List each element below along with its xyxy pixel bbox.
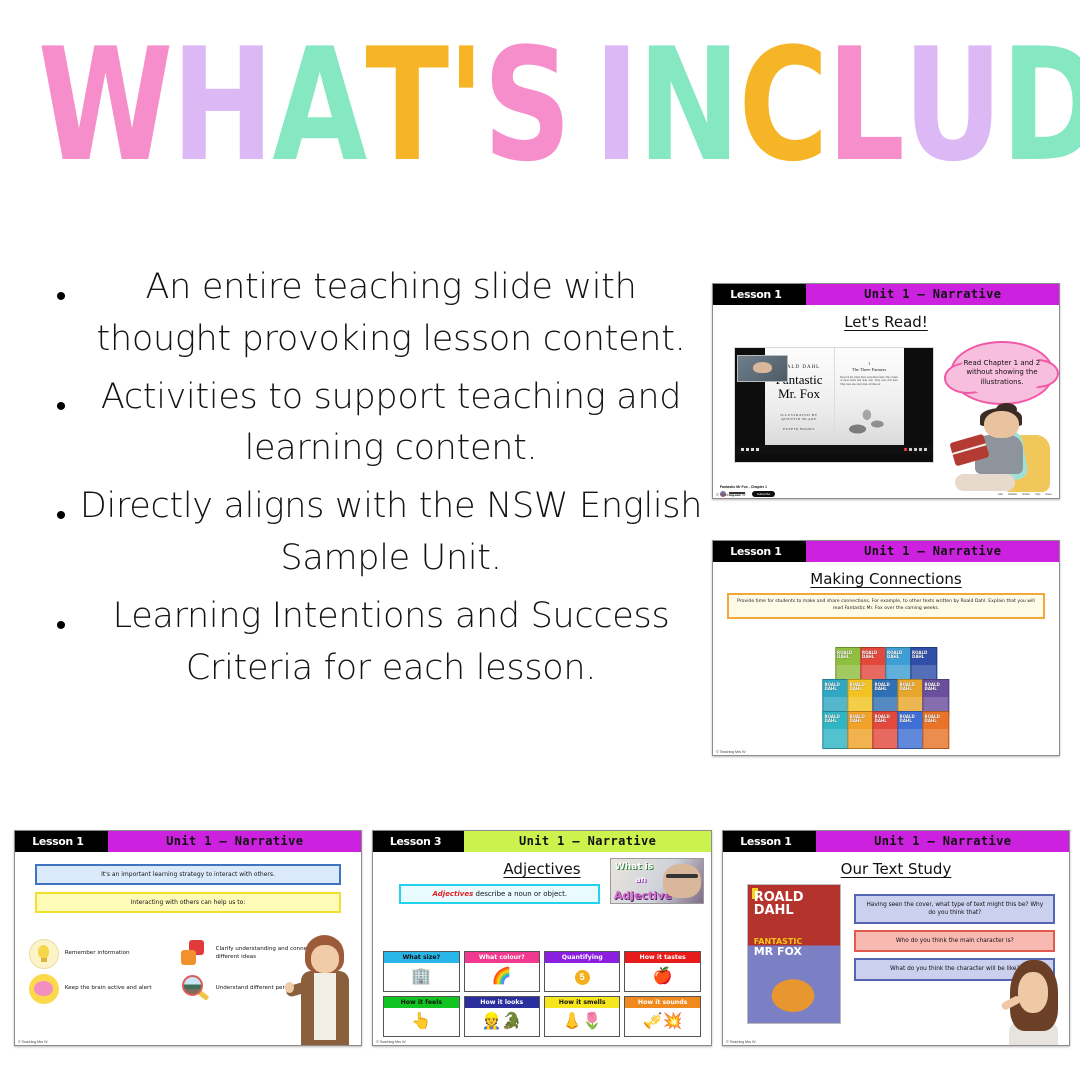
brain-icon: [29, 974, 59, 1004]
student-face: [1018, 972, 1048, 1013]
chapter-name: The Three Farmers: [840, 367, 898, 372]
adjective-card-body: 5: [545, 963, 619, 991]
video-title: Fantastic Mr Fox - Chapter 1: [720, 485, 767, 489]
adjective-card-body: 👷🐊: [465, 1008, 539, 1036]
slide-thumbnail-making-connections[interactable]: Lesson 1 Unit 1 – Narrative Making Conne…: [712, 540, 1060, 756]
glasses-icon: [666, 874, 697, 878]
illustration-sketch: [843, 398, 895, 440]
book-cover-image: ROALD DAHL FANTASTIC MR FOX: [747, 884, 840, 1023]
lesson-badge: Lesson 1: [713, 541, 806, 562]
slide-thumbnail-lets-read[interactable]: Lesson 1 Unit 1 – Narrative Let's Read! …: [712, 283, 1060, 499]
book-cover-grid: [794, 647, 977, 749]
title-letter-9: C: [738, 28, 826, 184]
adjective-card[interactable]: How it feels👆: [383, 996, 459, 1037]
title-letter-10: L: [827, 28, 903, 184]
adjective-card-header: How it looks: [465, 997, 539, 1008]
book-illustrator: ILLUSTRATED BY QUENTIN BLAKE: [770, 413, 828, 421]
adjective-card[interactable]: How it smells👃🌷: [544, 996, 620, 1037]
slide-body: Making Connections Provide time for stud…: [713, 562, 1059, 755]
adjective-card-header: Quantifying: [545, 952, 619, 963]
subscribe-button[interactable]: Subscribe: [752, 491, 775, 497]
benefit-item: Keep the brain active and alert: [29, 974, 176, 1004]
slide-title: Making Connections: [720, 570, 1052, 588]
feature-list: •An entire teaching slide with thought p…: [44, 262, 704, 700]
feature-list-item-label: Directly aligns with the NSW English Sam…: [78, 481, 704, 585]
lesson-badge: Lesson 3: [373, 831, 464, 852]
adjective-card-body: 👆: [384, 1008, 458, 1036]
book-cover-thumb: [848, 711, 875, 749]
video-text-line2: an: [635, 875, 646, 884]
slide-body: Adjectives What is an Adjective Adjectiv…: [373, 852, 711, 1045]
adjective-card[interactable]: How it tastes🍎: [624, 951, 700, 992]
adjective-card[interactable]: What size?🏢: [383, 951, 459, 992]
teacher-illustration: [285, 933, 358, 1045]
fox-illustration: [761, 971, 825, 1012]
book-cover-thumb: [823, 711, 850, 749]
cover-title-big: MR FOX: [754, 946, 836, 957]
cloud-callout: Read Chapter 1 and 2 without showing the…: [950, 341, 1054, 405]
title-letter-2: A: [272, 28, 365, 184]
slide-title: Our Text Study: [730, 860, 1062, 878]
title-letter-5: S: [483, 28, 570, 184]
magnifier-icon: [180, 974, 210, 1004]
puzzle-icon: [180, 939, 210, 969]
adjective-card[interactable]: Quantifying5: [544, 951, 620, 992]
cloud-text: Read Chapter 1 and 2 without showing the…: [962, 359, 1041, 387]
teacher-hand: [285, 982, 294, 993]
chapter-excerpt: Down in the valley there were three farm…: [840, 376, 898, 387]
slide-body: Let's Read! ROALD DAHL Fantastic Mr. Fox…: [713, 305, 1059, 498]
adjective-card-icon: 🍎: [653, 969, 673, 985]
adjective-card-icon: 👃🌷: [562, 1014, 602, 1030]
adjective-card-header: What colour?: [465, 952, 539, 963]
unit-header: Unit 1 – Narrative: [806, 541, 1059, 562]
book-title-line2: Mr. Fox: [778, 386, 820, 401]
slide-thumbnail-adjectives[interactable]: Lesson 3 Unit 1 – Narrative Adjectives W…: [372, 830, 712, 1046]
adjective-card-body: 🍎: [625, 963, 699, 991]
student-head: [984, 411, 1019, 439]
unit-header: Unit 1 – Narrative: [806, 284, 1059, 305]
adjective-card-icon: 👷🐊: [482, 1014, 522, 1030]
adjective-card-icon: 🎺💥: [643, 1014, 683, 1030]
reading-student-illustration: [948, 403, 1052, 496]
feature-list-item: •Activities to support teaching and lear…: [44, 372, 704, 476]
adjective-card-body: 🏢: [384, 963, 458, 991]
adjective-card-body: 👃🌷: [545, 1008, 619, 1036]
adjective-card-icon: 🌈: [492, 969, 512, 985]
playback-controls-icon[interactable]: [741, 448, 759, 451]
cover-author: ROALD DAHL: [754, 892, 836, 917]
bullet-icon: •: [44, 262, 78, 312]
title-letter-11: U: [903, 28, 1001, 184]
book-grid-row: [824, 711, 949, 749]
presenter-face: [663, 864, 702, 898]
unit-header: Unit 1 – Narrative: [464, 831, 711, 852]
definition-rest: describe a noun or object.: [473, 890, 567, 898]
puzzle-piece-orange: [181, 950, 196, 965]
video-embed[interactable]: ROALD DAHL Fantastic Mr. Fox ILLUSTRATED…: [734, 347, 935, 463]
presenter-webcam-overlay: [737, 355, 789, 382]
credit-line: © Teaching Mrs W: [726, 1039, 755, 1044]
quantity-badge: 5: [575, 970, 590, 985]
slide-header: Lesson 1 Unit 1 – Narrative: [713, 284, 1059, 305]
video-controls-bar[interactable]: [735, 445, 934, 454]
cover-title: FANTASTIC MR FOX: [754, 938, 836, 958]
adjective-card[interactable]: What colour?🌈: [464, 951, 540, 992]
teacher-shirt: [314, 973, 336, 1040]
feature-list-item-label: Learning Intentions and Success Criteria…: [78, 591, 704, 695]
slide-title: Let's Read!: [720, 313, 1052, 331]
benefit-item-label: Remember information: [65, 950, 130, 958]
feature-list-item: •An entire teaching slide with thought p…: [44, 262, 704, 366]
unit-header: Unit 1 – Narrative: [108, 831, 361, 852]
student-illustration: [1000, 960, 1066, 1045]
video-text-line1: What is: [615, 862, 653, 872]
credit-line: © Teaching Mrs W: [716, 492, 745, 497]
title-letter-8: N: [638, 28, 739, 184]
title-letter-3: T: [365, 28, 447, 184]
adjective-card[interactable]: How it looks👷🐊: [464, 996, 540, 1037]
adjective-card-header: How it smells: [545, 997, 619, 1008]
lesson-badge: Lesson 1: [15, 831, 108, 852]
slide-header: Lesson 3 Unit 1 – Narrative: [373, 831, 711, 852]
title-letter-4: ': [447, 28, 483, 184]
adjective-card-body: 🌈: [465, 963, 539, 991]
book-publisher: PUFFIN BOOKS: [770, 427, 828, 431]
credit-line: © Teaching Mrs W: [18, 1039, 47, 1044]
slide-thumbnail-text-study[interactable]: Lesson 1 Unit 1 – Narrative Our Text Stu…: [722, 830, 1070, 1046]
title-letter-1: H: [171, 28, 272, 184]
title-letter-12: D: [1001, 28, 1080, 184]
title-letter-0: W: [38, 28, 172, 184]
adjective-card-header: How it tastes: [625, 952, 699, 963]
discussion-question: Having seen the cover, what type of text…: [854, 894, 1055, 924]
adjective-card-body: 🎺💥: [625, 1008, 699, 1036]
chapter-number: 1: [840, 361, 898, 366]
adjective-card-header: How it sounds: [625, 997, 699, 1008]
credit-line: © Teaching Mrs W: [376, 1039, 405, 1044]
page-title: WHAT'SINCLUDED: [38, 28, 1042, 184]
teacher-face: [311, 945, 339, 973]
feature-list-item: •Directly aligns with the NSW English Sa…: [44, 481, 704, 585]
student-legs: [955, 474, 1015, 491]
adjective-card-icon: 🏢: [411, 969, 431, 985]
adjective-card-icon: 👆: [411, 1014, 431, 1030]
lesson-badge: Lesson 1: [713, 284, 806, 305]
lightbulb-icon: [29, 939, 59, 969]
magnifier-lens: [182, 975, 203, 996]
feature-list-item-label: Activities to support teaching and learn…: [78, 372, 704, 476]
bullet-icon: •: [44, 591, 78, 641]
slide-body: It's an important learning strategy to i…: [15, 852, 361, 1045]
book-text-page: 1 The Three Farmers Down in the valley t…: [834, 348, 904, 448]
video-text-line3: Adjective: [614, 889, 672, 902]
feature-list-item-label: An entire teaching slide with thought pr…: [78, 262, 704, 366]
adjective-card[interactable]: How it sounds🎺💥: [624, 996, 700, 1037]
strategy-callout-box: It's an important learning strategy to i…: [35, 864, 341, 885]
slide-body: Our Text Study ROALD DAHL FANTASTIC MR F…: [723, 852, 1069, 1045]
adjective-video-thumbnail[interactable]: What is an Adjective: [610, 858, 704, 904]
adjective-card-grid: What size?🏢What colour?🌈Quantifying5How …: [383, 951, 701, 1037]
credit-line: © Teaching Mrs W: [716, 749, 745, 754]
book-cover-thumb: [898, 711, 925, 749]
bullet-icon: •: [44, 481, 78, 531]
benefit-item: Remember information: [29, 939, 176, 969]
teacher-note-box: Provide time for students to make and sh…: [727, 593, 1046, 619]
slide-header: Lesson 1 Unit 1 – Narrative: [15, 831, 361, 852]
benefits-intro-box: Interacting with others can help us to:: [35, 892, 341, 913]
slide-header: Lesson 1 Unit 1 – Narrative: [723, 831, 1069, 852]
bullet-icon: •: [44, 372, 78, 422]
benefit-icon-grid: Remember informationClarify understandin…: [29, 939, 327, 1004]
unit-header: Unit 1 – Narrative: [816, 831, 1069, 852]
adjective-definition-banner: Adjectives describe a noun or object.: [399, 884, 600, 904]
lesson-badge: Lesson 1: [723, 831, 816, 852]
adjectives-title-row: Adjectives What is an Adjective: [380, 860, 705, 878]
book-cover-thumb: [923, 711, 950, 749]
discussion-question: Who do you think the main character is?: [854, 930, 1055, 952]
adjective-card-header: What size?: [384, 952, 458, 963]
benefit-item-label: Keep the brain active and alert: [65, 985, 152, 993]
slide-thumbnail-interacting[interactable]: Lesson 1 Unit 1 – Narrative It's an impo…: [14, 830, 362, 1046]
title-letter-7: I: [594, 28, 638, 184]
adjective-card-header: How it feels: [384, 997, 458, 1008]
feature-list-item: •Learning Intentions and Success Criteri…: [44, 591, 704, 695]
definition-keyword: Adjectives: [433, 890, 474, 898]
video-options-icons[interactable]: [904, 448, 927, 451]
slide-header: Lesson 1 Unit 1 – Narrative: [713, 541, 1059, 562]
poster-page: WHAT'SINCLUDED •An entire teaching slide…: [0, 0, 1080, 1080]
book-cover-thumb: [873, 711, 900, 749]
